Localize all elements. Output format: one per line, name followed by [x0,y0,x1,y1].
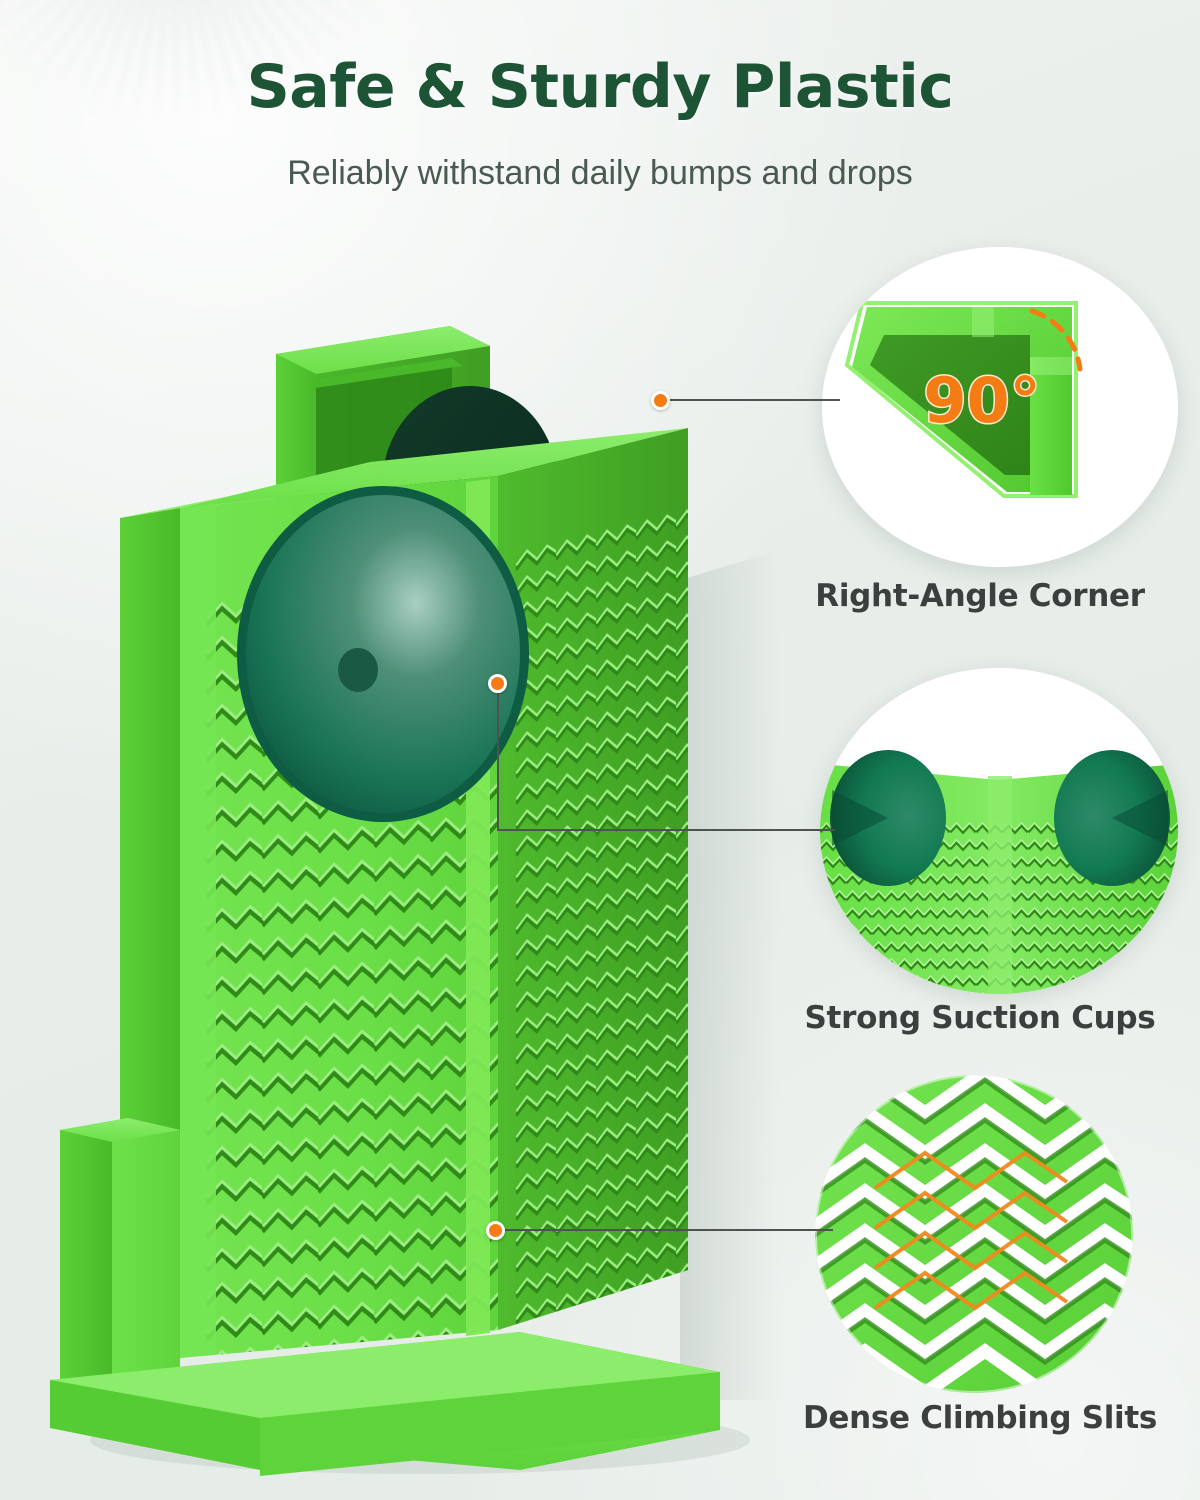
product-illustration [20,250,780,1480]
callout-label-dense-climbing-slits: Dense Climbing Slits [770,1400,1190,1436]
callout-bubble-strong-suction-cups [820,668,1178,994]
left-rail [180,504,216,1358]
connector-line-suction-cups-horizontal [497,829,835,831]
wall-shadow [680,550,780,1400]
strong-suction-cups-illustration [820,668,1178,994]
page-subtitle: Reliably withstand daily bumps and drops [0,154,1200,193]
callout-label-right-angle-corner: Right-Angle Corner [770,578,1190,614]
callout-label-strong-suction-cups: Strong Suction Cups [770,1000,1190,1036]
hotspot-dense-climbing-slits[interactable] [486,1221,505,1240]
connector-line-dense-climbing-slits [503,1229,833,1231]
base-step [60,1118,180,1402]
dense-climbing-slits-illustration [815,1075,1133,1393]
page-title: Safe & Sturdy Plastic [0,52,1200,122]
product-photo [20,250,780,1480]
callout-bubble-right-angle-corner: 90° [822,247,1178,567]
angle-value-label: 90° [923,364,1040,437]
connector-line-suction-cups-vertical [497,692,499,831]
right-angle-corner-illustration: 90° [822,247,1178,567]
connector-line-right-angle-corner [668,399,840,401]
callout-bubble-dense-climbing-slits [815,1075,1133,1393]
chevron-slits-right [516,505,696,1370]
hotspot-strong-suction-cups[interactable] [488,674,507,693]
hotspot-right-angle-corner[interactable] [651,391,670,410]
front-suction-cup [237,486,529,822]
